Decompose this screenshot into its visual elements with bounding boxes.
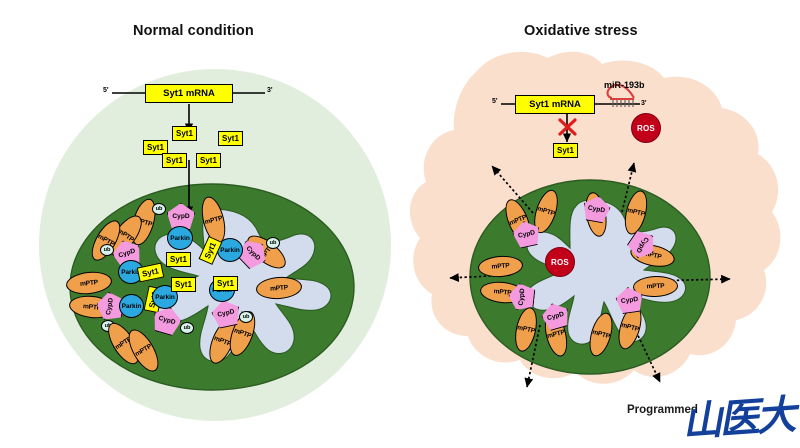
figure-vector-layer: [0, 0, 800, 444]
stress-five-prime-label: 5': [492, 98, 498, 105]
stress-three-prime-label: 3': [641, 100, 647, 107]
normal-mrna-label: Syt1 mRNA: [145, 84, 233, 103]
normal-five-prime-label: 5': [103, 87, 109, 94]
syt1-protein-5: Syt1: [218, 131, 243, 146]
ub-n-right: ub: [266, 237, 280, 249]
syt1-n-botleft: Syt1: [171, 277, 196, 292]
panel-title-normal: Normal condition: [133, 23, 254, 39]
syt1-protein-3: Syt1: [162, 153, 187, 168]
institution-watermark: 山医大: [680, 382, 795, 448]
syt1-n-bottom: Syt1: [213, 276, 238, 291]
parkin-n-top: Parkin: [167, 226, 193, 250]
syt1-n-top: Syt1: [166, 252, 191, 267]
panel-title-stress: Oxidative stress: [524, 23, 638, 39]
syt1-stress-single: Syt1: [553, 143, 578, 158]
syt1-protein-2: Syt1: [172, 126, 197, 141]
ub-n-upleft: ub: [100, 244, 114, 256]
ros-cytosolic: ROS: [631, 113, 661, 143]
mir-193b-label: miR-193b: [604, 80, 645, 90]
ub-n-top: ub: [152, 203, 166, 215]
ros-matrix: ROS: [545, 247, 575, 277]
syt1-protein-4: Syt1: [196, 153, 221, 168]
normal-three-prime-label: 3': [267, 87, 273, 94]
parkin-n-left: Parkin: [119, 294, 144, 318]
ub-n-botleft: ub: [180, 322, 194, 334]
figure-canvas: Normal condition Oxidative stress 5' Syt…: [0, 0, 800, 444]
stress-mrna-label: Syt1 mRNA: [515, 95, 595, 114]
ub-n-bottom: ub: [239, 311, 253, 323]
